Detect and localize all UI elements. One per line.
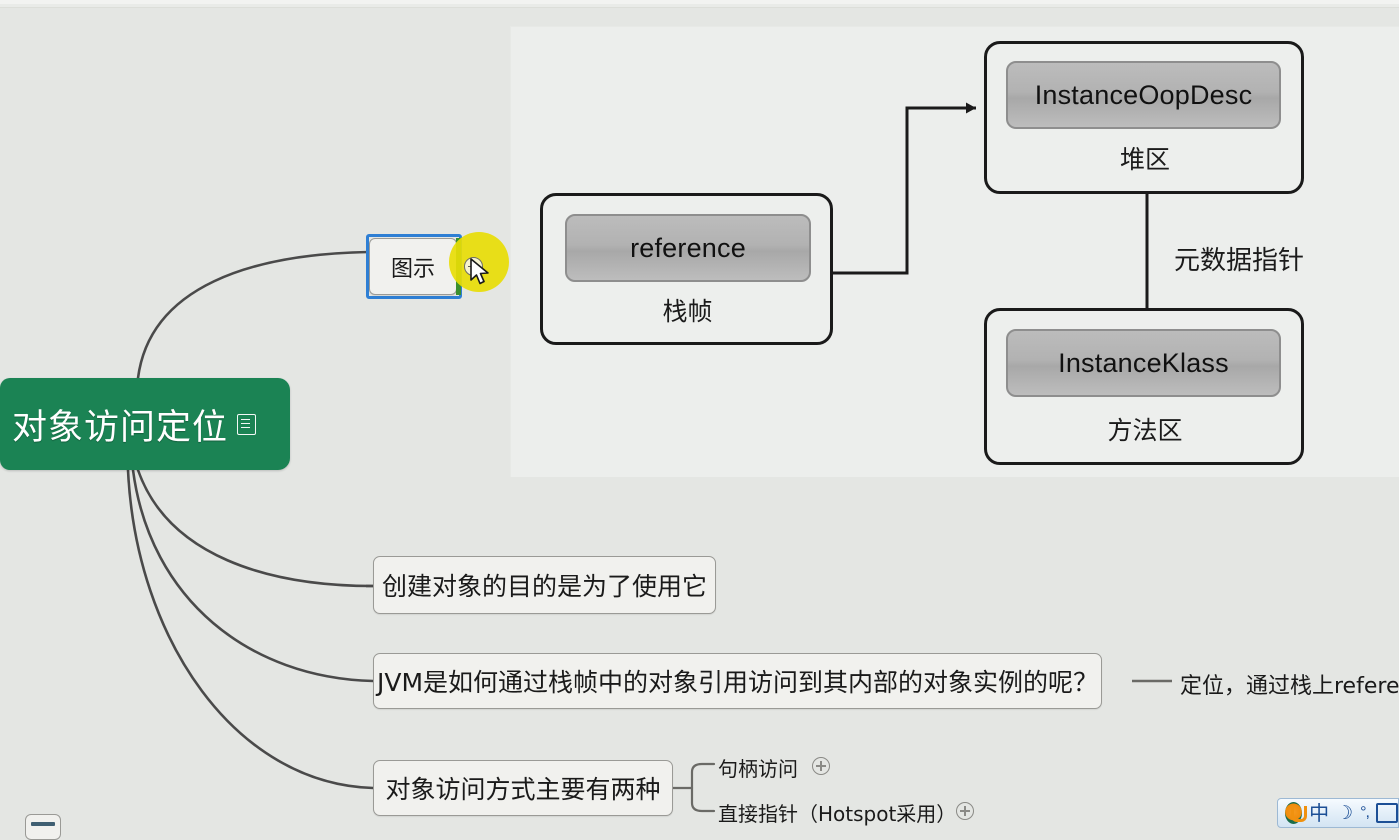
illustration-method-area-box: InstanceKlass 方法区 (984, 308, 1304, 465)
window-top-strip-secondary (0, 4, 1399, 8)
node-jvm-question[interactable]: JVM是如何通过栈帧中的对象引用访问到其内部的对象实例的呢？ (373, 653, 1102, 709)
sogou-logo-icon[interactable] (1285, 802, 1302, 824)
ime-mode-label[interactable]: 中 (1309, 803, 1329, 823)
mouse-cursor-icon (470, 258, 492, 288)
illustration-method-area-caption: 方法区 (987, 411, 1303, 447)
text-handle-access[interactable]: 句柄访问 (718, 753, 798, 782)
offscreen-node-partial[interactable] (25, 814, 61, 840)
root-node-label: 对象访问定位 (12, 399, 228, 450)
illustration-stack-frame-box: reference 栈帧 (540, 193, 833, 345)
illustration-reference-slot: reference (565, 214, 811, 282)
illustration-instanceklass-slot: InstanceKlass (1006, 329, 1281, 397)
illustration-heap-caption: 堆区 (987, 140, 1303, 176)
illustration-metadata-pointer-label: 元数据指针 (1174, 240, 1304, 277)
moon-icon[interactable]: ☽ (1336, 804, 1353, 823)
ime-punctuation-icon[interactable]: °, (1360, 805, 1369, 821)
node-access-ways[interactable]: 对象访问方式主要有两种 (373, 760, 673, 816)
plus-circle-icon-direct[interactable] (956, 802, 974, 820)
note-icon (237, 414, 256, 435)
keyboard-icon[interactable] (1376, 803, 1398, 823)
illustration-stack-caption: 栈帧 (543, 292, 832, 328)
illustration-heap-box: InstanceOopDesc 堆区 (984, 41, 1304, 194)
ime-toolbar[interactable]: 中 ☽ °, (1277, 798, 1399, 828)
illustration-instanceoopdesc-slot: InstanceOopDesc (1006, 61, 1281, 129)
offscreen-node-partial-bar (31, 822, 55, 826)
node-create-object-purpose[interactable]: 创建对象的目的是为了使用它 (373, 556, 716, 614)
mindmap-canvas[interactable]: reference 栈帧 InstanceOopDesc 堆区 Instance… (0, 0, 1399, 828)
node-tushi[interactable]: 图示 (369, 238, 457, 295)
text-locate-via-reference[interactable]: 定位，通过栈上reference访问 (1180, 668, 1399, 700)
text-direct-pointer[interactable]: 直接指针（Hotspot采用） (718, 798, 956, 827)
plus-circle-icon-handle[interactable] (812, 757, 830, 775)
root-node[interactable]: 对象访问定位 (0, 378, 290, 470)
